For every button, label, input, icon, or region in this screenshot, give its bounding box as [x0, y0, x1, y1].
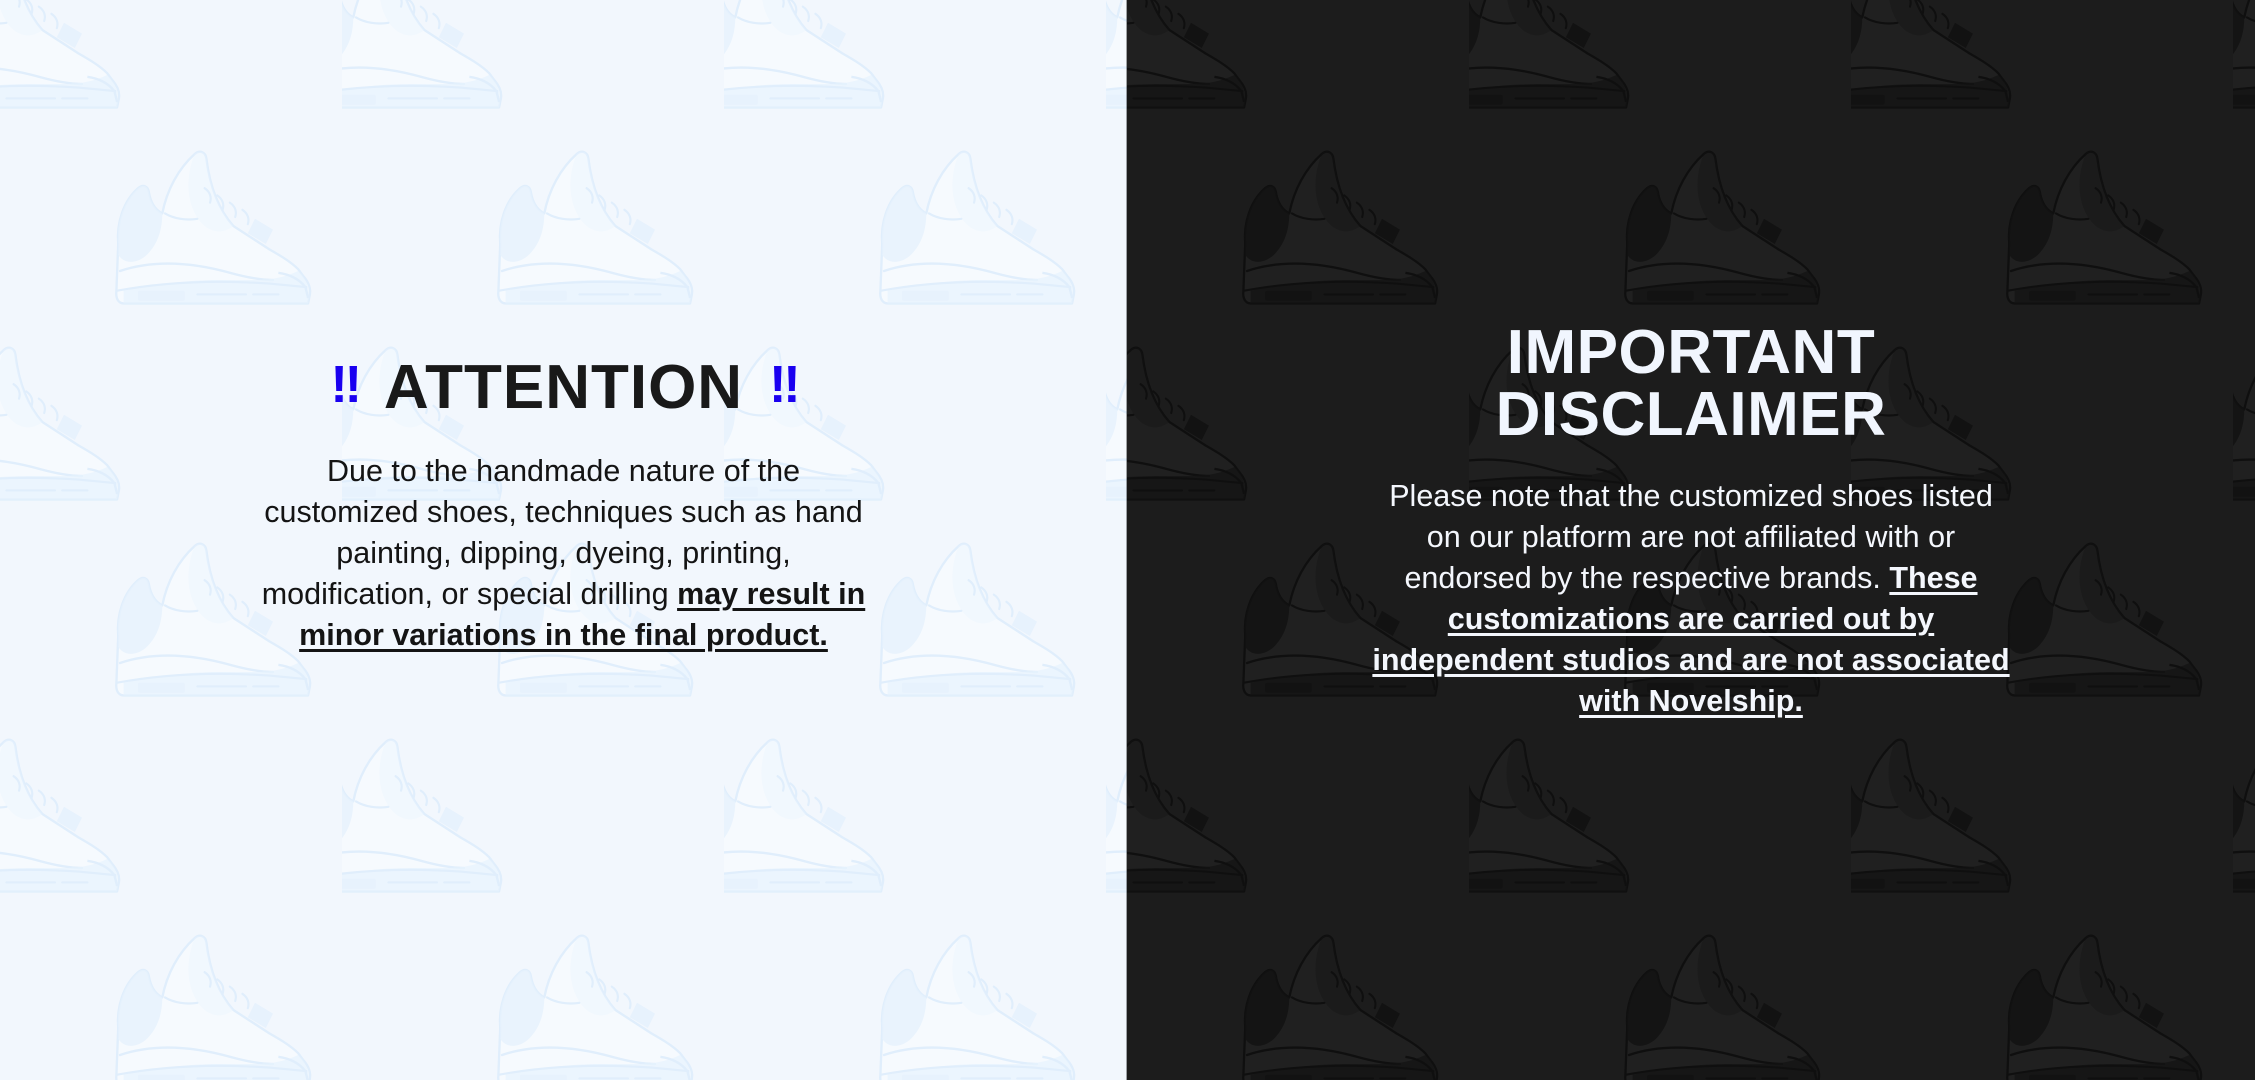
- disclaimer-panel: IMPORTANT DISCLAIMER Please note that th…: [1127, 0, 2255, 1080]
- disclaimer-body: Please note that the customized shoes li…: [1371, 476, 2011, 722]
- disclaimer-heading-line-1: IMPORTANT: [1507, 318, 1875, 387]
- double-exclamation-mark-icon-right: ‼: [769, 360, 796, 410]
- disclaimer-content: IMPORTANT DISCLAIMER Please note that th…: [1127, 0, 2255, 722]
- double-exclamation-mark-icon-left: ‼: [331, 360, 358, 410]
- attention-content: ‼ ATTENTION ‼ Due to the handmade nature…: [0, 0, 1127, 656]
- attention-panel: ‼ ATTENTION ‼ Due to the handmade nature…: [0, 0, 1127, 1080]
- disclaimer-heading-line-2: DISCLAIMER: [1496, 380, 1887, 449]
- panel-divider: [1126, 0, 1127, 1080]
- attention-body: Due to the handmade nature of the custom…: [254, 451, 874, 656]
- attention-heading: ‼ ATTENTION ‼: [130, 358, 997, 418]
- attention-heading-label: ATTENTION: [384, 358, 743, 418]
- disclaimer-heading: IMPORTANT DISCLAIMER: [1371, 322, 2011, 446]
- split-banner: ‼ ATTENTION ‼ Due to the handmade nature…: [0, 0, 2255, 1080]
